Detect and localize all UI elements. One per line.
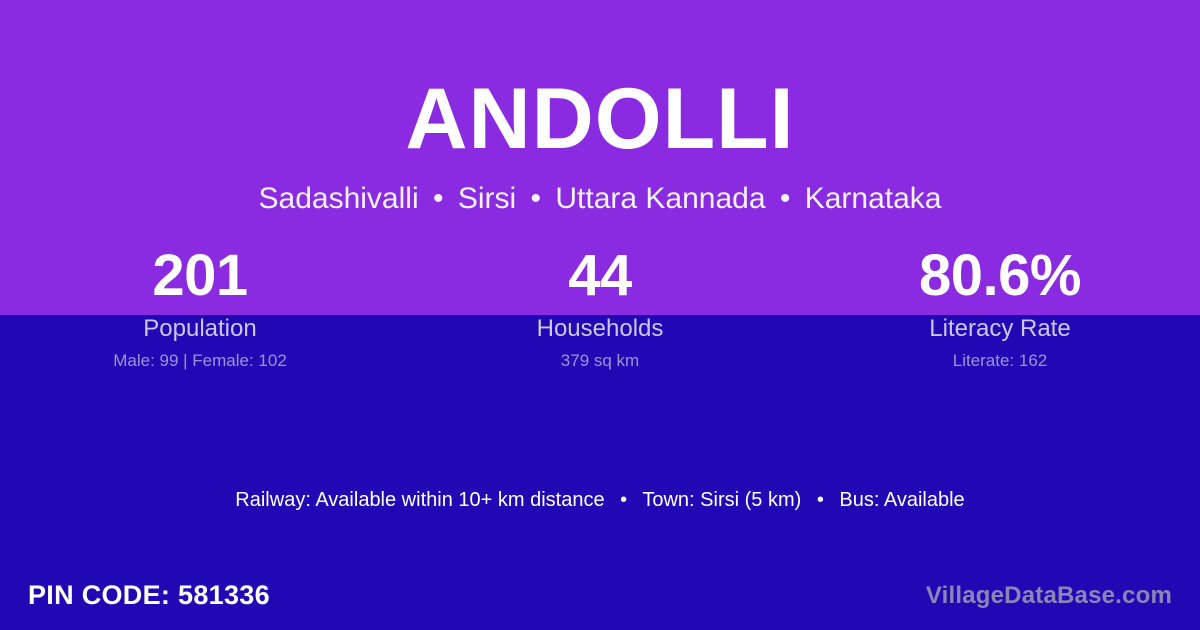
connectivity-railway: Railway: Available within 10+ km distanc… xyxy=(235,489,604,511)
stat-households-area: 379 sq km xyxy=(400,351,800,371)
connectivity-info-line: Railway: Available within 10+ km distanc… xyxy=(0,487,1200,513)
stat-literacy-rate-count: Literate: 162 xyxy=(800,351,1200,371)
village-info-card: ANDOLLI Sadashivalli • Sirsi • Uttara Ka… xyxy=(0,0,1200,630)
stat-population-label: Population xyxy=(0,315,400,343)
stat-literacy-rate-value: 80.6% xyxy=(800,243,1200,310)
stat-population-breakdown: Male: 99 | Female: 102 xyxy=(0,351,400,371)
stat-households-value: 44 xyxy=(400,243,800,310)
village-name-title: ANDOLLI xyxy=(0,76,1200,162)
stat-population-value: 201 xyxy=(0,243,400,310)
village-location-breadcrumb: Sadashivalli • Sirsi • Uttara Kannada • … xyxy=(0,182,1200,215)
stat-population: 201 Population Male: 99 | Female: 102 xyxy=(0,243,400,371)
stat-households-label: Households xyxy=(400,315,800,343)
breadcrumb-separator-icon: • xyxy=(427,182,450,215)
breadcrumb-separator-icon: • xyxy=(525,182,548,215)
connectivity-separator-icon: • xyxy=(807,489,834,511)
connectivity-separator-icon: • xyxy=(610,489,637,511)
stat-households: 44 Households 379 sq km xyxy=(400,243,800,371)
connectivity-nearest-town: Town: Sirsi (5 km) xyxy=(642,489,801,511)
stat-literacy-rate-label: Literacy Rate xyxy=(800,315,1200,343)
stat-literacy-rate: 80.6% Literacy Rate Literate: 162 xyxy=(800,243,1200,371)
pin-code-text: PIN CODE: 581336 xyxy=(28,582,270,609)
breadcrumb-state: Karnataka xyxy=(805,182,942,215)
breadcrumb-separator-icon: • xyxy=(774,182,797,215)
breadcrumb-district: Uttara Kannada xyxy=(555,182,765,215)
breadcrumb-gram-panchayat: Sadashivalli xyxy=(259,182,419,215)
breadcrumb-block: Sirsi xyxy=(458,182,516,215)
connectivity-bus: Bus: Available xyxy=(839,489,964,511)
brand-watermark: VillageDataBase.com xyxy=(926,584,1172,608)
statistics-row: 201 Population Male: 99 | Female: 102 44… xyxy=(0,243,1200,371)
card-footer: PIN CODE: 581336 VillageDataBase.com xyxy=(0,573,1200,618)
